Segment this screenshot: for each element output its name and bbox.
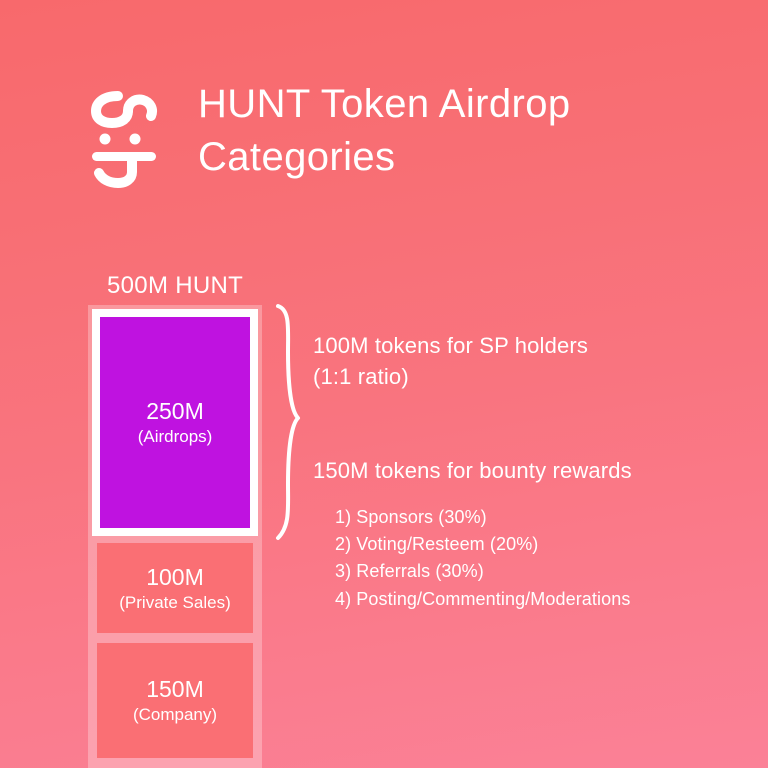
segment-value: 100M [146,563,204,591]
segment-label: (Airdrops) [138,427,213,448]
segment-value: 150M [146,675,204,703]
segment-value: 250M [146,397,204,425]
list-item: 1) Sponsors (30%) [335,504,733,531]
page-title: HUNT Token Airdrop Categories [198,78,571,184]
header: HUNT Token Airdrop Categories [88,78,571,188]
segment-label: (Company) [133,705,217,726]
brace-connector-icon [270,300,304,544]
annotations-panel: 100M tokens for SP holders (1:1 ratio) 1… [313,330,733,613]
steemhunt-logo-icon [88,84,160,188]
list-item: 2) Voting/Resteem (20%) [335,531,733,558]
list-item: 4) Posting/Commenting/Moderations [335,586,733,613]
list-item: 3) Referrals (30%) [335,558,733,585]
segment-label: (Private Sales) [119,593,230,614]
stacked-bar-chart: 250M (Airdrops) 100M (Private Sales) 150… [88,305,262,768]
total-supply-label: 500M HUNT [107,272,243,300]
annotation-sp-holders: 100M tokens for SP holders (1:1 ratio) [313,330,733,392]
bounty-breakdown-list: 1) Sponsors (30%) 2) Voting/Resteem (20%… [335,504,733,613]
bar-segment-airdrops[interactable]: 250M (Airdrops) [92,309,258,536]
annotation-bounty-rewards: 150M tokens for bounty rewards [313,455,733,486]
airdrop-infographic: HUNT Token Airdrop Categories 500M HUNT … [0,0,768,768]
bar-segment-company[interactable]: 150M (Company) [97,643,253,758]
bar-segment-private-sales[interactable]: 100M (Private Sales) [97,543,253,633]
